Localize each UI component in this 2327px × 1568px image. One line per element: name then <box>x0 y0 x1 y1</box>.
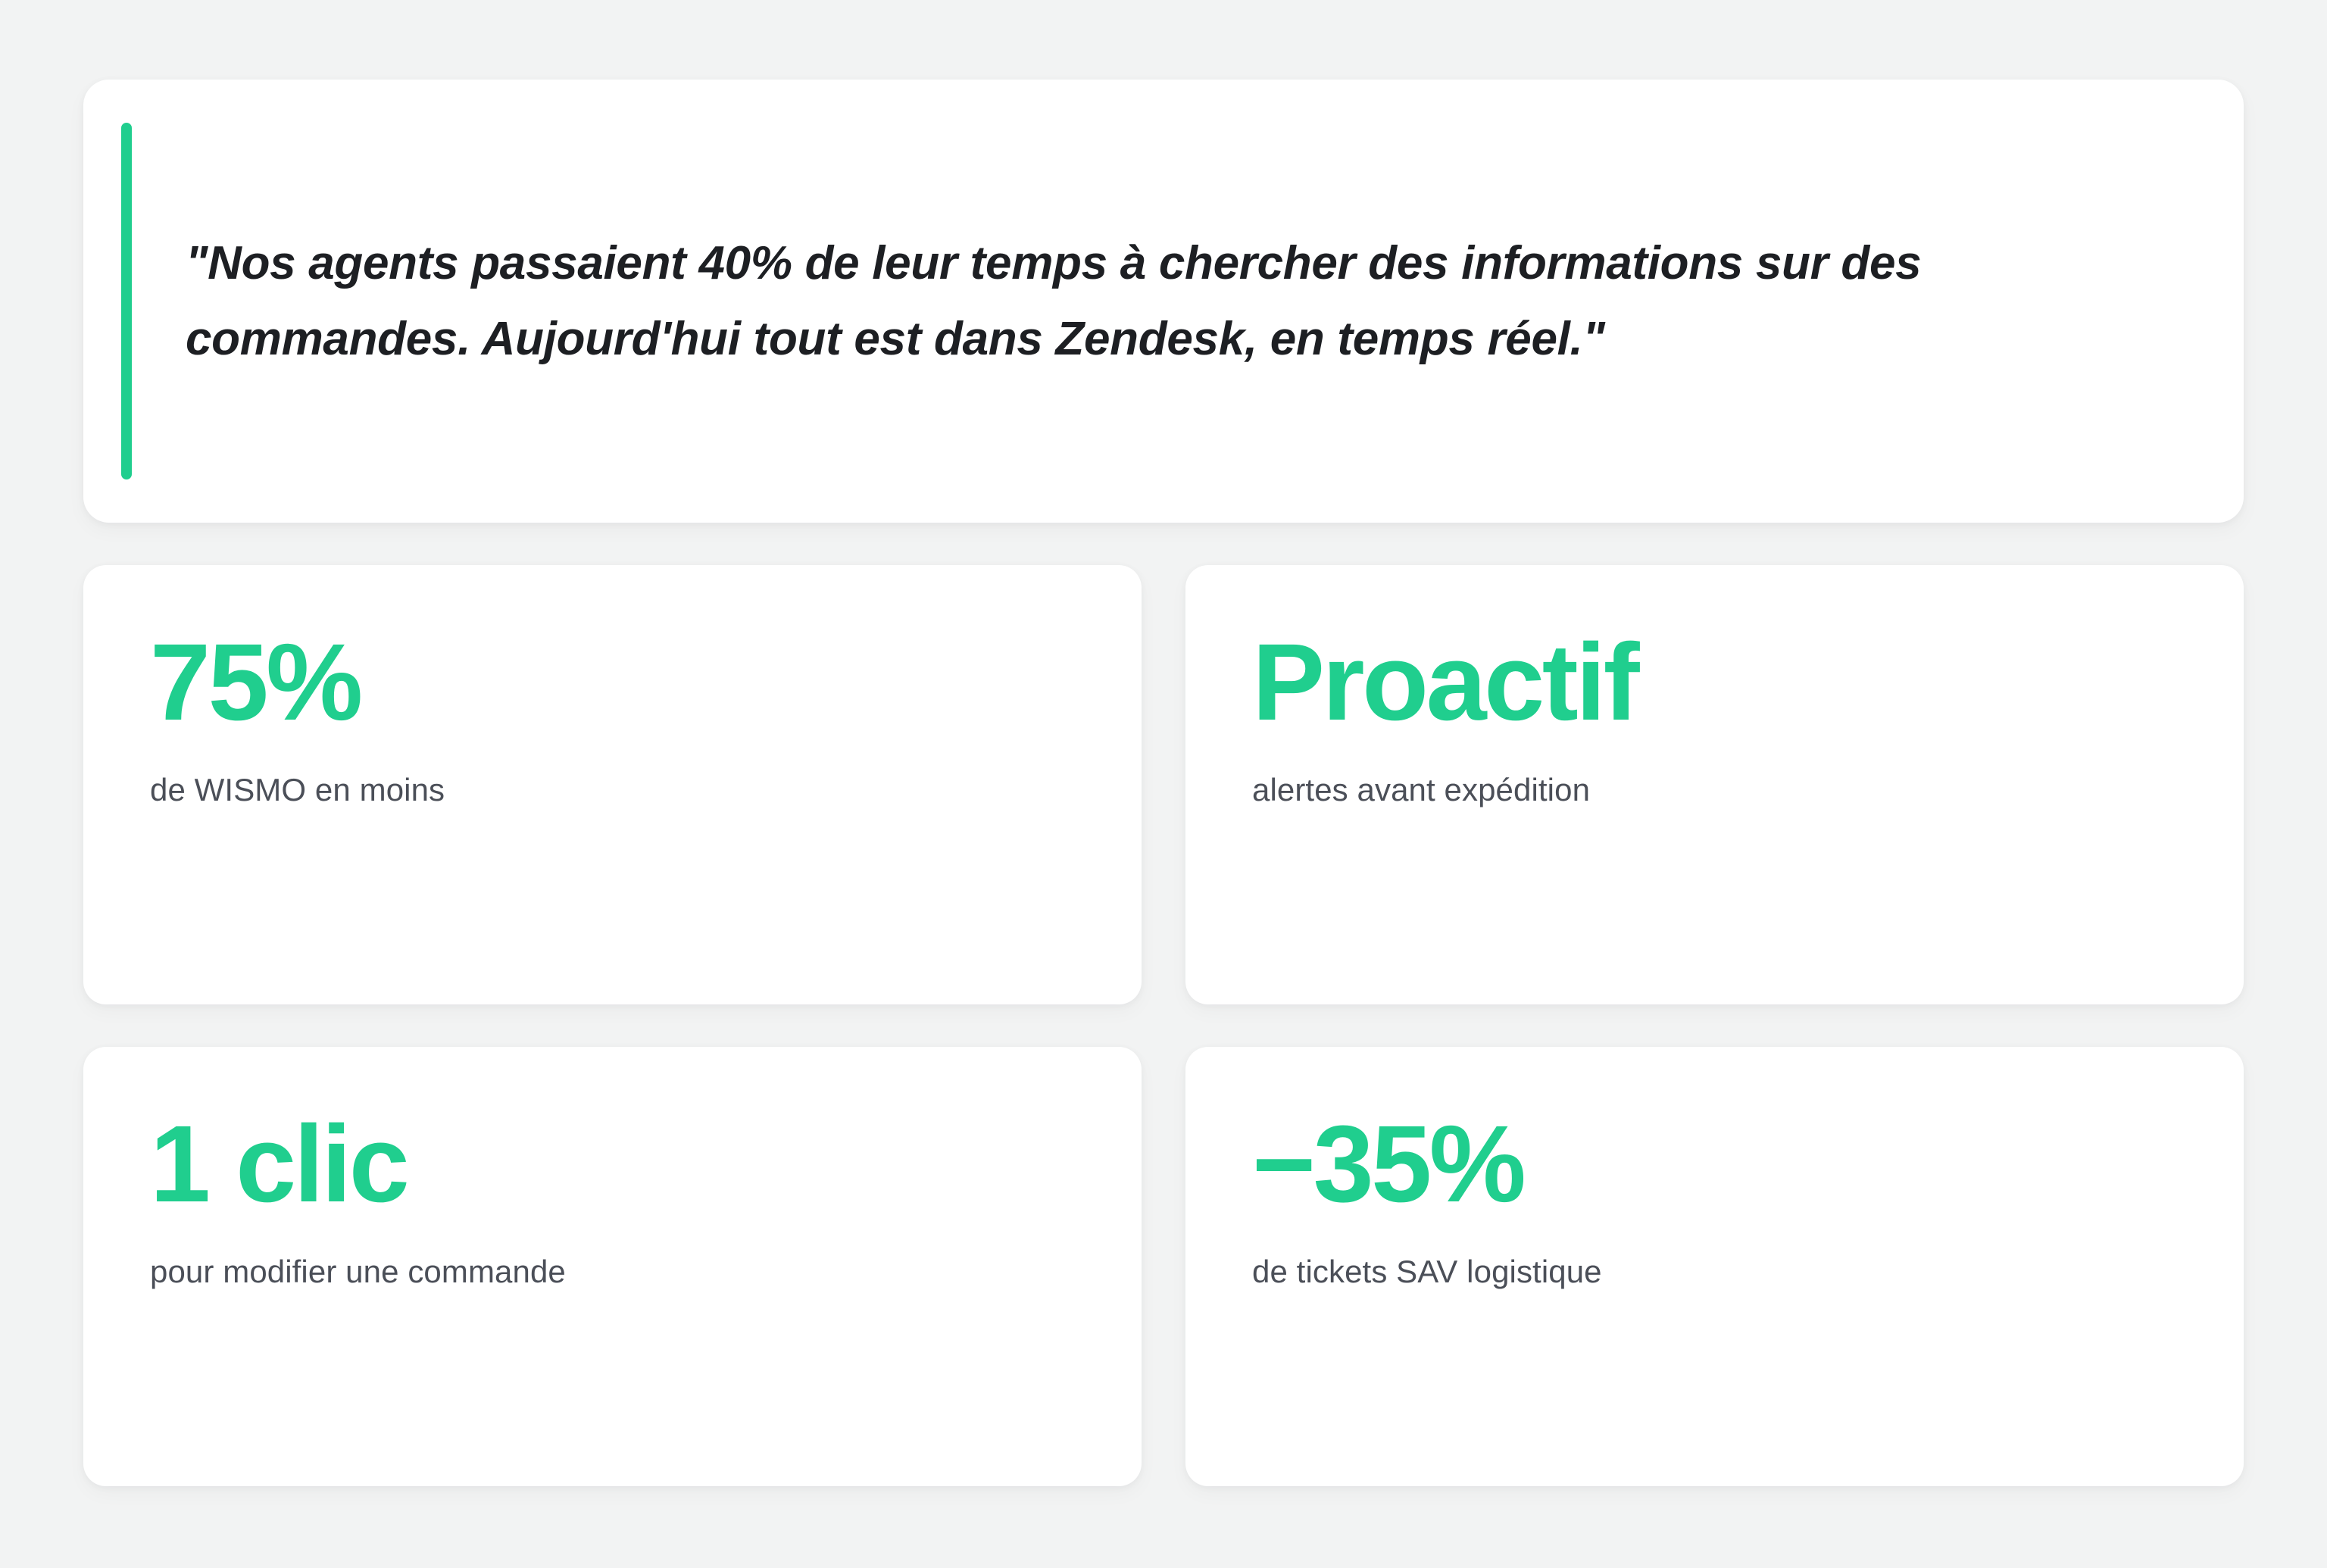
stats-page: "Nos agents passaient 40% de leur temps … <box>0 0 2327 1568</box>
stat-value: Proactif <box>1252 627 1637 739</box>
testimonial-quote-text: "Nos agents passaient 40% de leur temps … <box>186 226 2179 377</box>
stat-value: 75% <box>150 627 361 739</box>
stat-label: pour modifier une commande <box>150 1252 566 1292</box>
testimonial-quote-card: "Nos agents passaient 40% de leur temps … <box>83 80 2244 523</box>
stats-grid: 75% de WISMO en moins Proactif alertes a… <box>83 565 2244 1486</box>
stat-card-tickets-sav: −35% de tickets SAV logistique <box>1185 1047 2244 1486</box>
stat-card-wismo: 75% de WISMO en moins <box>83 565 1142 1004</box>
stat-value: 1 clic <box>150 1109 407 1220</box>
stat-label: de WISMO en moins <box>150 770 445 811</box>
stat-card-un-clic: 1 clic pour modifier une commande <box>83 1047 1142 1486</box>
accent-bar-icon <box>121 123 132 479</box>
stat-label: alertes avant expédition <box>1252 770 1590 811</box>
stat-card-proactif: Proactif alertes avant expédition <box>1185 565 2244 1004</box>
stat-label: de tickets SAV logistique <box>1252 1252 1602 1292</box>
stat-value: −35% <box>1252 1109 1523 1220</box>
